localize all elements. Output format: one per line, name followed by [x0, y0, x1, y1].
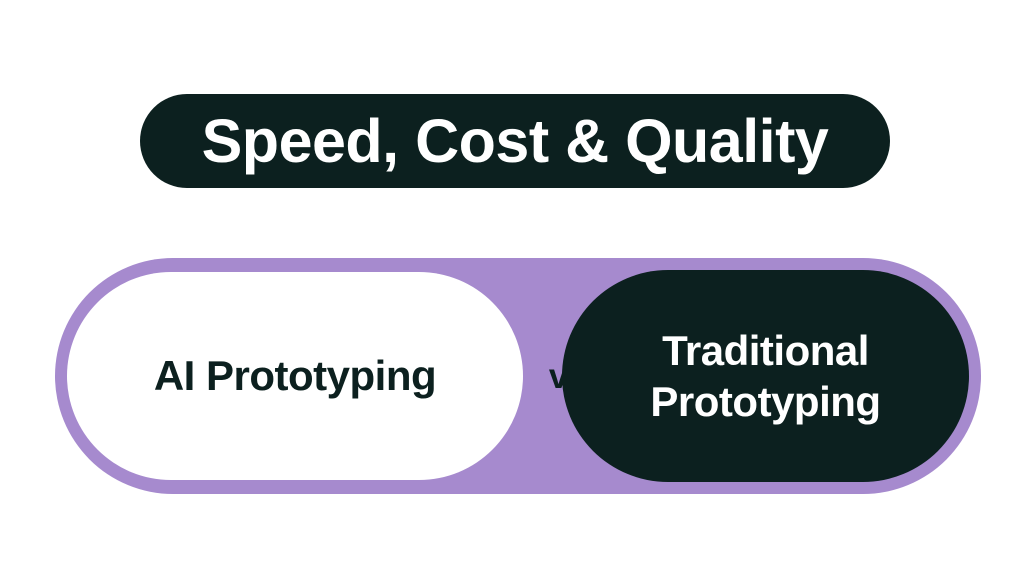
comparison-inner: AI Prototyping vs Traditional Prototypin… — [55, 258, 981, 494]
option-ai-prototyping-label: AI Prototyping — [154, 352, 436, 399]
title-pill: Speed, Cost & Quality — [140, 94, 890, 188]
option-traditional-prototyping-label-line1: Traditional — [662, 325, 869, 376]
option-ai-prototyping[interactable]: AI Prototyping — [67, 272, 523, 480]
slide-canvas: Speed, Cost & Quality AI Prototyping vs … — [0, 0, 1024, 576]
option-traditional-prototyping[interactable]: Traditional Prototyping — [562, 270, 969, 482]
option-traditional-prototyping-label-line2: Prototyping — [650, 376, 880, 427]
comparison-band: AI Prototyping vs Traditional Prototypin… — [55, 258, 981, 494]
page-title: Speed, Cost & Quality — [202, 111, 829, 172]
